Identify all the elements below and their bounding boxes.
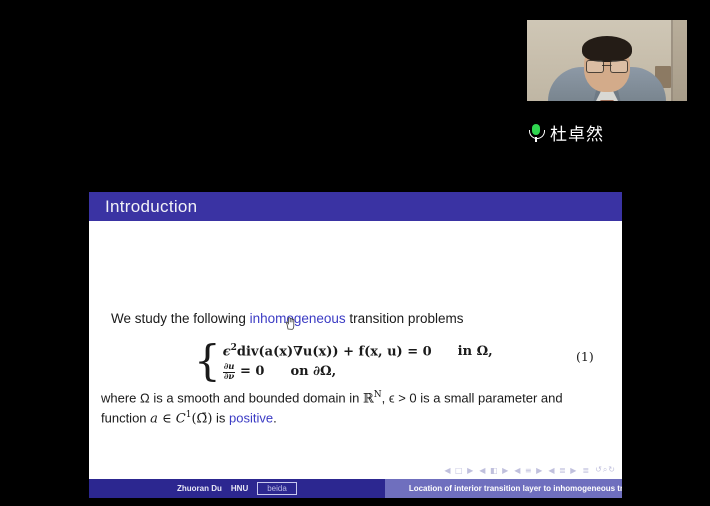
person-mouth [600, 100, 614, 101]
nav-back-find-forward-icon[interactable]: ↺⌕↻ [595, 465, 616, 475]
equation-line2-condition: on ∂Ω, [290, 364, 336, 379]
nav-presentation-icon[interactable]: ≣ [582, 466, 590, 475]
slide-title-bar: Introduction [89, 192, 622, 221]
beamer-navigation-symbols[interactable]: ◀ □ ▶ ◀ ◧ ▶ ◀ ≡ ▶ ◀ ≣ ▶ ≣ ↺⌕↻ [444, 465, 616, 475]
real-numbers-exponent: N [374, 390, 382, 400]
footer-institute-badge: beida [257, 482, 297, 495]
equation-line1-math: ϵ2div(a(x)∇u(x)) + f(x, u) = 0 [223, 343, 432, 359]
function-class-a: a ∈ C [150, 412, 186, 427]
lens-right [610, 60, 628, 73]
footer-talk-title-section: Location of interior transition layer to… [385, 479, 622, 498]
wall-right-panel [673, 20, 687, 101]
participant-name: 杜卓然 [550, 120, 604, 145]
nav-section-icon[interactable]: ◀ ≣ ▶ [548, 466, 577, 475]
real-numbers-symbol: ℝ [363, 391, 374, 406]
glasses-icon [586, 60, 628, 71]
equation-rows: ϵ2div(a(x)∇u(x)) + f(x, u) = 0 in Ω, ∂u∂… [223, 343, 532, 381]
slide-title: Introduction [105, 197, 197, 217]
speaker-name-label: 杜卓然 [528, 120, 604, 145]
equation-brace: { [194, 342, 221, 380]
equation-line1-condition: in Ω, [458, 344, 532, 359]
intro-after: transition problems [346, 311, 464, 326]
footer-author: Zhuoran Du [177, 484, 222, 493]
slide-footer: Zhuoran Du HNU beida Location of interio… [89, 479, 622, 498]
microphone-icon [528, 124, 544, 142]
where-paragraph: where Ω is a smooth and bounded domain i… [101, 389, 601, 429]
person-hair [582, 36, 632, 62]
equation-row-1: ϵ2div(a(x)∇u(x)) + f(x, u) = 0 in Ω, [223, 343, 532, 359]
equation-line2-math: ∂u∂ν = 0 [223, 362, 265, 381]
intro-sentence: We study the following inhomogeneous tra… [111, 311, 463, 326]
function-class-domain: (Ω̄) [191, 412, 212, 427]
presentation-slide[interactable]: Introduction We study the following inho… [89, 192, 622, 498]
slide-body: We study the following inhomogeneous tra… [89, 221, 622, 479]
wall-seam [671, 20, 673, 101]
where-part1: where Ω is a smooth and bounded domain i… [101, 390, 363, 405]
intro-before: We study the following [111, 311, 250, 326]
partial-derivative-fraction: ∂u∂ν [223, 363, 236, 382]
equation-number: (1) [576, 349, 594, 364]
intro-highlight: inhomogeneous [250, 311, 346, 326]
nav-frame-icon[interactable]: ◀ ◧ ▶ [479, 466, 509, 475]
footer-talk-title: Location of interior transition layer to… [409, 484, 622, 493]
nav-subsection-icon[interactable]: ◀ ≡ ▶ [514, 466, 543, 475]
video-background [527, 20, 687, 101]
footer-author-section: Zhuoran Du HNU beida [89, 479, 385, 498]
footer-university: HNU [231, 484, 248, 493]
where-part3: is [212, 411, 229, 426]
equation-block: { ϵ2div(a(x)∇u(x)) + f(x, u) = 0 in Ω, ∂… [194, 343, 532, 381]
where-part4: . [273, 411, 277, 426]
nav-slide-icon[interactable]: ◀ □ ▶ [444, 466, 474, 475]
equation-row-2: ∂u∂ν = 0 on ∂Ω, [223, 362, 532, 381]
where-highlight: positive [229, 411, 273, 426]
participant-video-tile[interactable] [527, 20, 687, 101]
lens-left [586, 60, 604, 73]
